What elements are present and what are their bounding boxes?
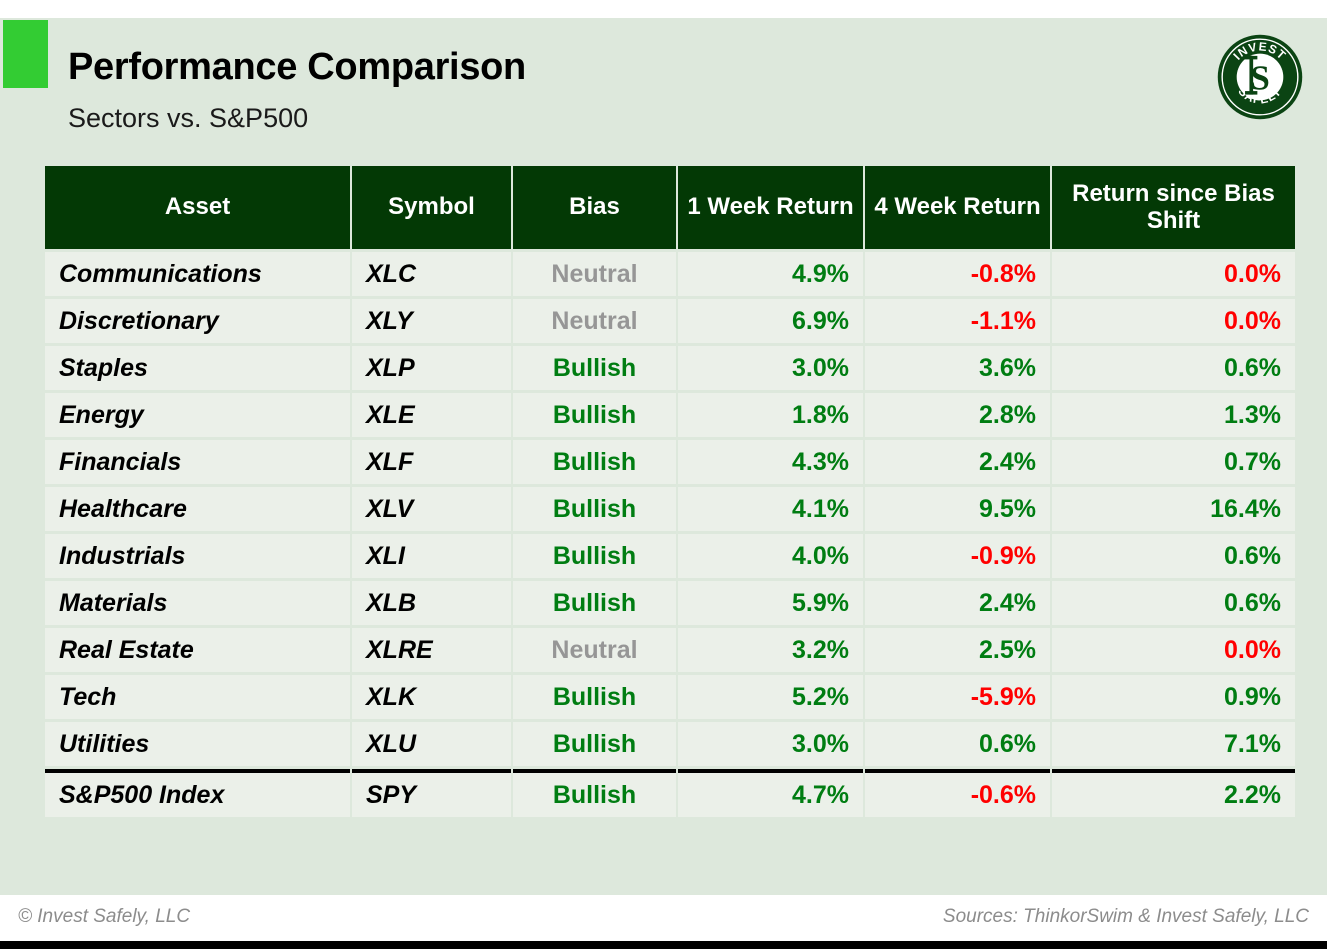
- table-row: Real EstateXLRENeutral3.2%2.5%0.0%: [45, 628, 1295, 672]
- cell-bias-shift: 0.0%: [1052, 252, 1295, 296]
- cell-bias-shift: 0.7%: [1052, 440, 1295, 484]
- cell-asset: Tech: [45, 675, 350, 719]
- cell-1week: 5.9%: [678, 581, 863, 625]
- cell-symbol: SPY: [352, 769, 511, 817]
- cell-4week: 2.5%: [865, 628, 1050, 672]
- cell-bias: Bullish: [513, 346, 676, 390]
- cell-asset: S&P500 Index: [45, 769, 350, 817]
- footer: © Invest Safely, LLC Sources: ThinkorSwi…: [0, 895, 1327, 941]
- table-row: HealthcareXLVBullish4.1%9.5%16.4%: [45, 487, 1295, 531]
- cell-asset: Materials: [45, 581, 350, 625]
- invest-safely-logo: INVEST SAFELY S: [1216, 33, 1304, 121]
- footer-copyright: © Invest Safely, LLC: [18, 906, 190, 928]
- cell-1week: 4.9%: [678, 252, 863, 296]
- cell-bias-shift: 1.3%: [1052, 393, 1295, 437]
- cell-1week: 3.0%: [678, 346, 863, 390]
- cell-4week: 9.5%: [865, 487, 1050, 531]
- table-row: MaterialsXLBBullish5.9%2.4%0.6%: [45, 581, 1295, 625]
- cell-bias: Bullish: [513, 675, 676, 719]
- cell-4week: -0.9%: [865, 534, 1050, 578]
- cell-symbol: XLI: [352, 534, 511, 578]
- table-row: IndustrialsXLIBullish4.0%-0.9%0.6%: [45, 534, 1295, 578]
- cell-1week: 5.2%: [678, 675, 863, 719]
- cell-symbol: XLF: [352, 440, 511, 484]
- cell-symbol: XLC: [352, 252, 511, 296]
- cell-4week: -0.6%: [865, 769, 1050, 817]
- cell-symbol: XLE: [352, 393, 511, 437]
- table-row: CommunicationsXLCNeutral4.9%-0.8%0.0%: [45, 252, 1295, 296]
- cell-1week: 3.2%: [678, 628, 863, 672]
- cell-1week: 3.0%: [678, 722, 863, 766]
- cell-asset: Energy: [45, 393, 350, 437]
- cell-bias-shift: 0.0%: [1052, 299, 1295, 343]
- table-row: StaplesXLPBullish3.0%3.6%0.6%: [45, 346, 1295, 390]
- page-subtitle: Sectors vs. S&P500: [68, 103, 308, 134]
- cell-symbol: XLB: [352, 581, 511, 625]
- cell-symbol: XLRE: [352, 628, 511, 672]
- cell-4week: -0.8%: [865, 252, 1050, 296]
- cell-bias: Bullish: [513, 769, 676, 817]
- performance-table-wrapper: Asset Symbol Bias 1 Week Return 4 Week R…: [43, 163, 1283, 820]
- cell-bias-shift: 2.2%: [1052, 769, 1295, 817]
- cell-asset: Staples: [45, 346, 350, 390]
- table-header-row: Asset Symbol Bias 1 Week Return 4 Week R…: [45, 166, 1295, 249]
- cell-bias-shift: 0.6%: [1052, 581, 1295, 625]
- cell-symbol: XLY: [352, 299, 511, 343]
- bottom-bar: [0, 941, 1327, 949]
- cell-bias: Neutral: [513, 252, 676, 296]
- cell-bias: Neutral: [513, 299, 676, 343]
- column-header-1week: 1 Week Return: [678, 166, 863, 249]
- cell-bias: Bullish: [513, 487, 676, 531]
- cell-bias: Bullish: [513, 534, 676, 578]
- cell-4week: -1.1%: [865, 299, 1050, 343]
- column-header-bias: Bias: [513, 166, 676, 249]
- cell-symbol: XLV: [352, 487, 511, 531]
- cell-bias-shift: 0.6%: [1052, 534, 1295, 578]
- cell-bias-shift: 16.4%: [1052, 487, 1295, 531]
- cell-bias-shift: 0.0%: [1052, 628, 1295, 672]
- table-row: FinancialsXLFBullish4.3%2.4%0.7%: [45, 440, 1295, 484]
- table-row: DiscretionaryXLYNeutral6.9%-1.1%0.0%: [45, 299, 1295, 343]
- table-body: CommunicationsXLCNeutral4.9%-0.8%0.0%Dis…: [45, 252, 1295, 817]
- column-header-asset: Asset: [45, 166, 350, 249]
- cell-bias: Bullish: [513, 722, 676, 766]
- slide: Performance Comparison Sectors vs. S&P50…: [0, 0, 1327, 949]
- accent-block: [3, 20, 48, 88]
- footer-sources: Sources: ThinkorSwim & Invest Safely, LL…: [943, 906, 1309, 928]
- cell-asset: Financials: [45, 440, 350, 484]
- cell-bias-shift: 0.6%: [1052, 346, 1295, 390]
- cell-1week: 4.3%: [678, 440, 863, 484]
- table-row: TechXLKBullish5.2%-5.9%0.9%: [45, 675, 1295, 719]
- cell-symbol: XLK: [352, 675, 511, 719]
- cell-1week: 4.0%: [678, 534, 863, 578]
- cell-bias-shift: 7.1%: [1052, 722, 1295, 766]
- cell-bias: Bullish: [513, 393, 676, 437]
- cell-asset: Real Estate: [45, 628, 350, 672]
- cell-symbol: XLP: [352, 346, 511, 390]
- page-title: Performance Comparison: [68, 46, 526, 89]
- cell-1week: 6.9%: [678, 299, 863, 343]
- cell-1week: 4.7%: [678, 769, 863, 817]
- cell-4week: 2.8%: [865, 393, 1050, 437]
- cell-asset: Communications: [45, 252, 350, 296]
- cell-4week: 2.4%: [865, 440, 1050, 484]
- cell-asset: Industrials: [45, 534, 350, 578]
- cell-bias: Bullish: [513, 581, 676, 625]
- cell-4week: 3.6%: [865, 346, 1050, 390]
- cell-4week: 2.4%: [865, 581, 1050, 625]
- column-header-4week: 4 Week Return: [865, 166, 1050, 249]
- cell-1week: 4.1%: [678, 487, 863, 531]
- table-row: UtilitiesXLUBullish3.0%0.6%7.1%: [45, 722, 1295, 766]
- cell-asset: Utilities: [45, 722, 350, 766]
- table-row: S&P500 IndexSPYBullish4.7%-0.6%2.2%: [45, 769, 1295, 817]
- cell-bias: Neutral: [513, 628, 676, 672]
- column-header-bias-shift: Return since Bias Shift: [1052, 166, 1295, 249]
- cell-bias-shift: 0.9%: [1052, 675, 1295, 719]
- cell-symbol: XLU: [352, 722, 511, 766]
- cell-4week: 0.6%: [865, 722, 1050, 766]
- performance-table: Asset Symbol Bias 1 Week Return 4 Week R…: [43, 163, 1297, 820]
- cell-asset: Discretionary: [45, 299, 350, 343]
- cell-4week: -5.9%: [865, 675, 1050, 719]
- cell-1week: 1.8%: [678, 393, 863, 437]
- cell-asset: Healthcare: [45, 487, 350, 531]
- cell-bias: Bullish: [513, 440, 676, 484]
- table-row: EnergyXLEBullish1.8%2.8%1.3%: [45, 393, 1295, 437]
- column-header-symbol: Symbol: [352, 166, 511, 249]
